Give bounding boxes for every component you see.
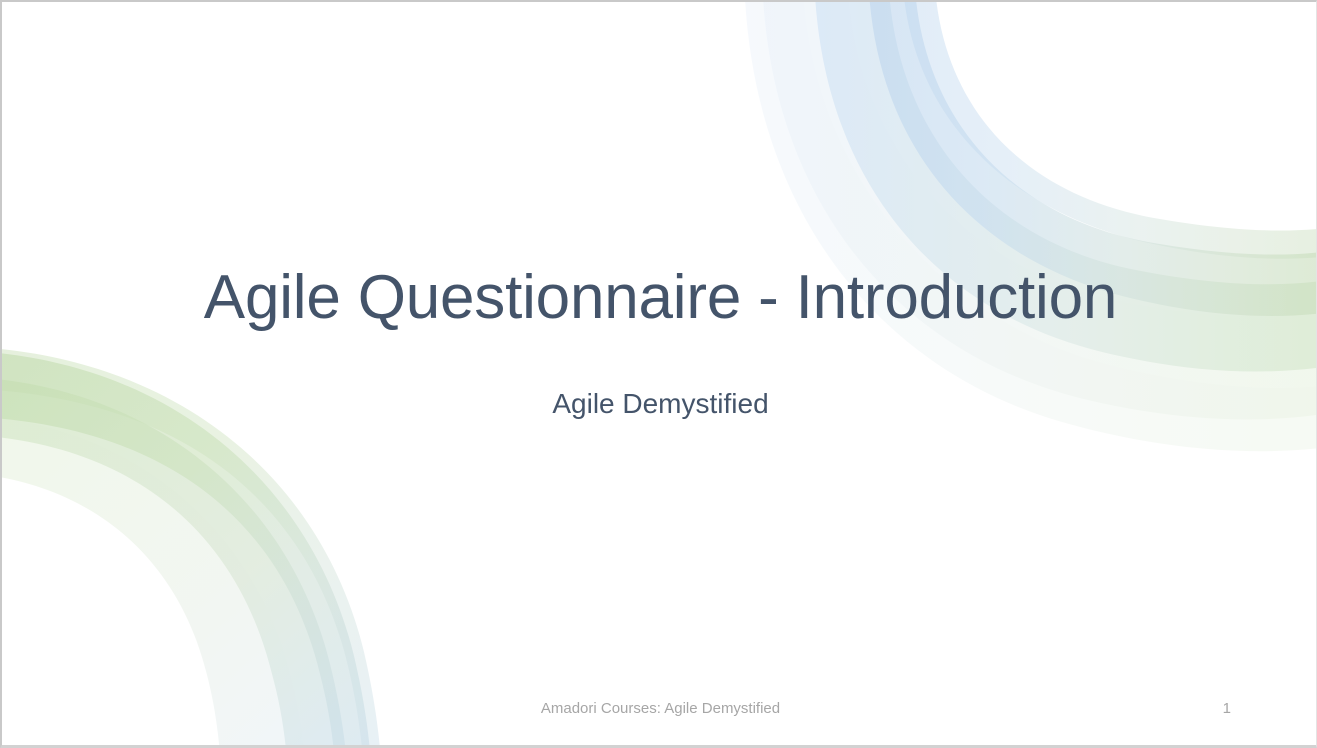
page-title: Agile Questionnaire - Introduction xyxy=(2,264,1317,332)
presentation-slide: Agile Questionnaire - Introduction Agile… xyxy=(0,0,1317,748)
subtitle-placeholder[interactable]: Agile Demystified xyxy=(2,387,1317,421)
title-placeholder[interactable]: Agile Questionnaire - Introduction xyxy=(2,264,1317,332)
slide-footer: Amadori Courses: Agile Demystified xyxy=(2,700,1317,717)
page-subtitle: Agile Demystified xyxy=(2,387,1317,421)
slide-number: 1 xyxy=(1223,700,1231,717)
slide-content: Agile Questionnaire - Introduction Agile… xyxy=(2,2,1317,748)
